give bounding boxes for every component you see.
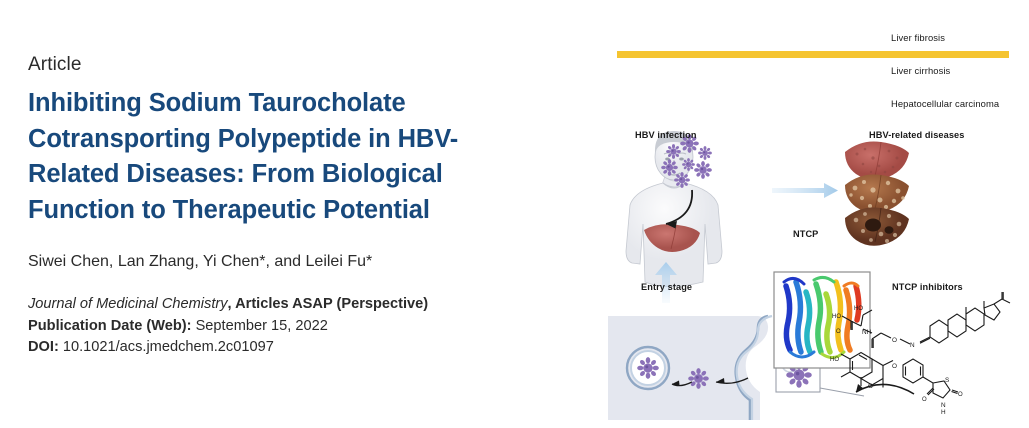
page-title[interactable]: Inhibiting Sodium Taurocholate Cotranspo…: [28, 86, 523, 228]
graphical-abstract-figure[interactable]: N O NH O HO: [600, 120, 1029, 420]
liver-cirrhosis-icon: [845, 174, 909, 212]
progression-arrow-right-icon: [772, 183, 838, 198]
graphical-abstract-column: N O NH O HO: [600, 0, 1029, 428]
svg-text:S: S: [945, 377, 949, 384]
doi-value: 10.1021/acs.jmedchem.2c01097: [59, 339, 274, 355]
journal-line: Journal of Medicinal Chemistry, Articles…: [28, 294, 548, 316]
doi-label: DOI:: [28, 339, 59, 355]
svg-text:N: N: [910, 342, 915, 349]
article-card: Article Inhibiting Sodium Taurocholate C…: [0, 0, 1029, 428]
article-info-column: Article Inhibiting Sodium Taurocholate C…: [28, 52, 548, 359]
svg-text:O: O: [922, 397, 927, 403]
endocytic-vesicle-icon: [627, 347, 669, 389]
svg-text:O: O: [892, 337, 897, 344]
label-entry-stage: Entry stage: [641, 282, 692, 292]
inhibition-arrow-icon: [856, 384, 914, 394]
label-liver-cirrhosis: Liver cirrhosis: [891, 65, 950, 76]
journal-issue: , Articles ASAP (Perspective): [228, 296, 429, 312]
svg-text:O: O: [836, 329, 841, 335]
ntcp-structure-panel: [774, 272, 870, 368]
content-type-kicker: Article: [28, 52, 548, 77]
inhibitor-structure-2: HO O O: [830, 353, 963, 417]
author-list: Siwei Chen, Lan Zhang, Yi Chen*, and Lei…: [28, 251, 548, 273]
label-liver-fibrosis: Liver fibrosis: [891, 32, 945, 43]
doi-line: DOI: 10.1021/acs.jmedchem.2c01097: [28, 337, 548, 359]
svg-text:O: O: [868, 383, 873, 390]
graphical-abstract-svg: N O NH O HO: [600, 120, 1029, 420]
journal-name: Journal of Medicinal Chemistry: [28, 296, 228, 312]
svg-text:N: N: [941, 402, 946, 409]
label-ntcp: NTCP: [793, 229, 818, 239]
publication-date-value: September 15, 2022: [192, 318, 328, 334]
liver-fibrosis-icon: [845, 141, 909, 179]
svg-text:HO: HO: [832, 314, 841, 320]
svg-text:HO: HO: [830, 357, 839, 363]
label-hepatocellular-carcinoma: Hepatocellular carcinoma: [891, 98, 999, 109]
label-hbv-related-diseases: HBV-related diseases: [869, 130, 964, 140]
publication-date-label: Publication Date (Web):: [28, 318, 192, 334]
svg-text:H: H: [941, 409, 946, 416]
hepatocellular-carcinoma-icon: [845, 207, 909, 245]
svg-text:O: O: [892, 363, 897, 370]
svg-text:O: O: [958, 392, 963, 398]
publication-metadata: Journal of Medicinal Chemistry, Articles…: [28, 294, 548, 359]
publication-date-line: Publication Date (Web): September 15, 20…: [28, 316, 548, 338]
label-ntcp-inhibitors: NTCP inhibitors: [892, 282, 963, 292]
label-hbv-infection: HBV infection: [635, 130, 697, 140]
svg-text:HO: HO: [854, 306, 863, 312]
accent-bar: [617, 51, 1009, 58]
